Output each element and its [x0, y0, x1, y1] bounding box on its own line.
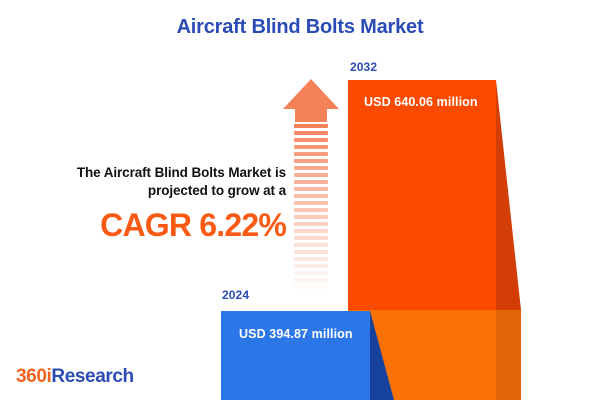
bar-2024-value-label: USD 394.87 million — [239, 327, 353, 341]
bar-2024-year-label: 2024 — [222, 288, 249, 302]
logo-word: Research — [51, 366, 133, 387]
brand-logo: 360iResearch — [16, 366, 134, 388]
infographic-canvas: Aircraft Blind Bolts Market The Aircraft… — [0, 0, 600, 400]
bar-2024-front — [221, 311, 370, 400]
logo-mark: 360i — [16, 366, 51, 387]
bar-2024-side — [370, 311, 394, 400]
